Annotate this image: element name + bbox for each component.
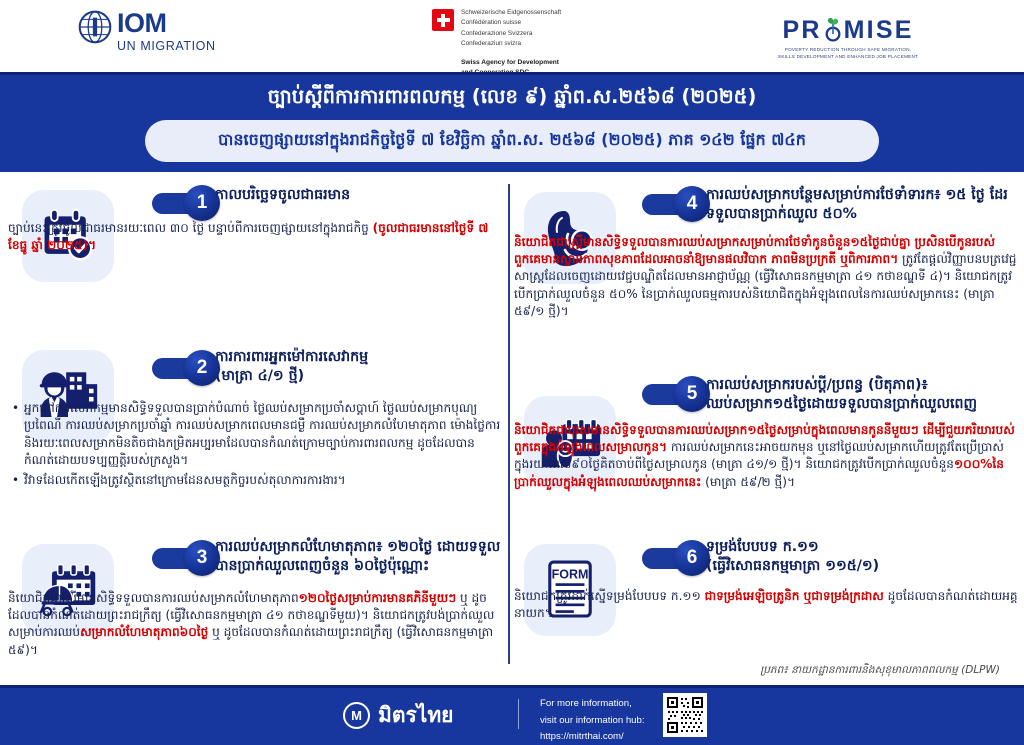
section-6-badge: 6: [642, 540, 710, 576]
swiss-confederation-logo: Schweizerische Eidgenossenschaft Confédé…: [432, 8, 561, 79]
section-2-badge: 2: [152, 350, 220, 386]
section-2-bullets: អ្នកម៉ៅការសេវាកម្មមានសិទ្ធិទទួលបានប្រាក់…: [12, 400, 502, 491]
body-part: ច្បាប់នេះត្រូវចូលជាធរមានរយៈពេល ៣០ ថ្ងៃ ប…: [8, 221, 373, 235]
footer-url[interactable]: https://mitrthai.com/: [540, 729, 645, 745]
section-6-heading: ទម្រង់បែបបទ ក.១១ (ធ្វើវិសោធនកម្មមាត្រា ១…: [706, 538, 1018, 576]
iom-logo: IOM UN MIGRATION: [78, 10, 216, 53]
section-5-badge: 5: [642, 376, 710, 412]
swiss-cross-icon: [432, 9, 454, 31]
section-1-heading: កាលបរិច្ឆេទចូលជាធរមាន: [215, 186, 500, 205]
mitrthai-wordmark: มิตรไทย: [378, 699, 453, 732]
section-2-heading: ការការពារអ្នកម៉ៅការសេវាកម្ម (មាត្រា ៤/១ …: [215, 348, 500, 386]
swiss-line: Confédération suisse: [461, 18, 561, 28]
qr-code-icon[interactable]: [663, 693, 707, 737]
globe-icon: [78, 10, 112, 44]
footer-top-rule: [0, 685, 1024, 688]
mitrthai-mark-letter: M: [351, 708, 362, 723]
source-credit: ប្រភព៖ នាយកដ្ឋានការពារនិងសុខុមាលភាពពលកម្…: [760, 664, 1000, 679]
band-top-rule: [0, 72, 1024, 75]
footer-bar: M มิตรไทย For more information, visit ou…: [0, 685, 1024, 745]
section-5-heading: ការឈប់សម្រាករបស់ប្ដី/ប្រពន្ធ (បិតុភាព)៖ …: [706, 376, 1018, 414]
promise-subline: POVERTY REDUCTION THROUGH SAFE MIGRATION…: [778, 47, 918, 54]
section-number: 6: [674, 540, 710, 576]
content-area: 1 កាលបរិច្ឆេទចូលជាធរមាន ច្បាប់នេះត្រូវចូ…: [0, 172, 1024, 685]
body-part: (មាត្រា ៥៩/២ ថ្មី)។: [701, 475, 795, 489]
swiss-line: Schweizerische Eidgenossenschaft: [461, 8, 561, 18]
body-part: និយោជិតជាស្ត្រីមានសិទ្ធិទទួលបានការឈប់សម្…: [8, 591, 299, 605]
right-column: 4 ការឈប់សម្រាកបន្ថែមសម្រាប់ការថែទាំទារក៖…: [510, 172, 1024, 685]
section-5-body: និយោជិតជាបុរសមានសិទ្ធិទទួលបានការឈប់សម្រា…: [514, 422, 1018, 491]
svg-text:FORM: FORM: [552, 567, 589, 581]
section-number: 1: [184, 185, 220, 221]
mitrthai-logo: M มิตรไทย: [343, 699, 453, 732]
promise-wordmark-pre: PR: [783, 16, 822, 44]
section-number: 5: [674, 376, 710, 412]
body-part-highlight: ជាទម្រង់អេឡិចត្រូនិក ឬជាទម្រង់ក្រដាស: [705, 589, 884, 603]
footer-info-line: For more information,: [540, 696, 645, 713]
section-number: 3: [184, 540, 220, 576]
body-part-highlight: ១២០ថ្ងៃសម្រាប់ការមានគភិនីមួយៗ: [299, 591, 456, 605]
mitrthai-mark-icon: M: [343, 702, 370, 729]
page-subtitle: បានចេញផ្សាយនៅក្នុងរាជកិច្ចថ្ងៃទី ៧ ខែវិច…: [218, 129, 806, 153]
footer-info-line: visit our information hub:: [540, 713, 645, 730]
promise-subline: SKILLS DEVELOPMENT AND ENHANCED JOB PLAC…: [778, 54, 918, 61]
footer-info: For more information, visit our informat…: [540, 696, 645, 745]
section-1-body: ច្បាប់នេះត្រូវចូលជាធរមានរយៈពេល ៣០ ថ្ងៃ ប…: [8, 220, 500, 254]
section-4-heading: ការឈប់សម្រាកបន្ថែមសម្រាប់ការថែទាំទារក៖ ១…: [706, 186, 1018, 224]
list-item: វិវាទដែលកើតឡើងត្រូវស្ថិតនៅក្រោមដែនសមត្ថក…: [12, 472, 502, 489]
section-4-badge: 4: [642, 186, 710, 222]
page-title: ច្បាប់ស្ដីពីការការពារពលកម្ម (លេខ ៩) ឆ្នា…: [0, 84, 1024, 113]
section-number: 2: [184, 350, 220, 386]
swiss-line: Confederazione Svizzera: [461, 29, 561, 39]
section-3-heading: ការឈប់សម្រាកលំហែមាតុភាព៖ ១២០ថ្ងៃ ដោយទទួល…: [215, 538, 505, 576]
swiss-line: Confederaziun svizra: [461, 39, 561, 49]
logo-bar: IOM UN MIGRATION Schweizerische Eidgenos…: [0, 0, 1024, 72]
section-3-badge: 3: [152, 540, 220, 576]
promise-logo: PR MISE POVERTY REDUCTION THROUGH SAFE M…: [778, 12, 918, 60]
infographic-page: IOM UN MIGRATION Schweizerische Eidgenos…: [0, 0, 1024, 745]
body-part-highlight: សម្រាកលំហែមាតុភាព៦០ថ្ងៃ: [80, 625, 208, 639]
iom-tagline: UN MIGRATION: [117, 39, 216, 53]
section-6-body: និយោជកត្រូវដាក់ស្នើទម្រង់បែបបទ ក.១១ ជាទម…: [514, 588, 1018, 622]
list-item: អ្នកម៉ៅការសេវាកម្មមានសិទ្ធិទទួលបានប្រាក់…: [12, 400, 502, 470]
left-column: 1 កាលបរិច្ឆេទចូលជាធរមាន ច្បាប់នេះត្រូវចូ…: [0, 172, 508, 685]
section-number: 4: [674, 186, 710, 222]
title-band: ច្បាប់ស្ដីពីការការពារពលកម្ម (លេខ ៩) ឆ្នា…: [0, 72, 1024, 172]
section-3-body: និយោជិតជាស្ត្រីមានសិទ្ធិទទួលបានការឈប់សម្…: [8, 590, 500, 659]
body-part: និយោជកត្រូវដាក់ស្នើទម្រង់បែបបទ ក.១១: [514, 589, 705, 603]
section-1-badge: 1: [152, 185, 220, 221]
promise-wordmark-post: MISE: [844, 16, 914, 44]
iom-wordmark: IOM: [117, 10, 216, 36]
footer-divider: [518, 699, 519, 729]
sprout-icon: [822, 12, 844, 43]
section-4-body: និយោជិតជាស្ត្រីមានសិទ្ធិទទួលបានការឈប់សម្…: [514, 234, 1018, 320]
swiss-agency-line: Swiss Agency for Development: [461, 58, 561, 69]
subtitle-pill: បានចេញផ្សាយនៅក្នុងរាជកិច្ចថ្ងៃទី ៧ ខែវិច…: [145, 120, 879, 162]
